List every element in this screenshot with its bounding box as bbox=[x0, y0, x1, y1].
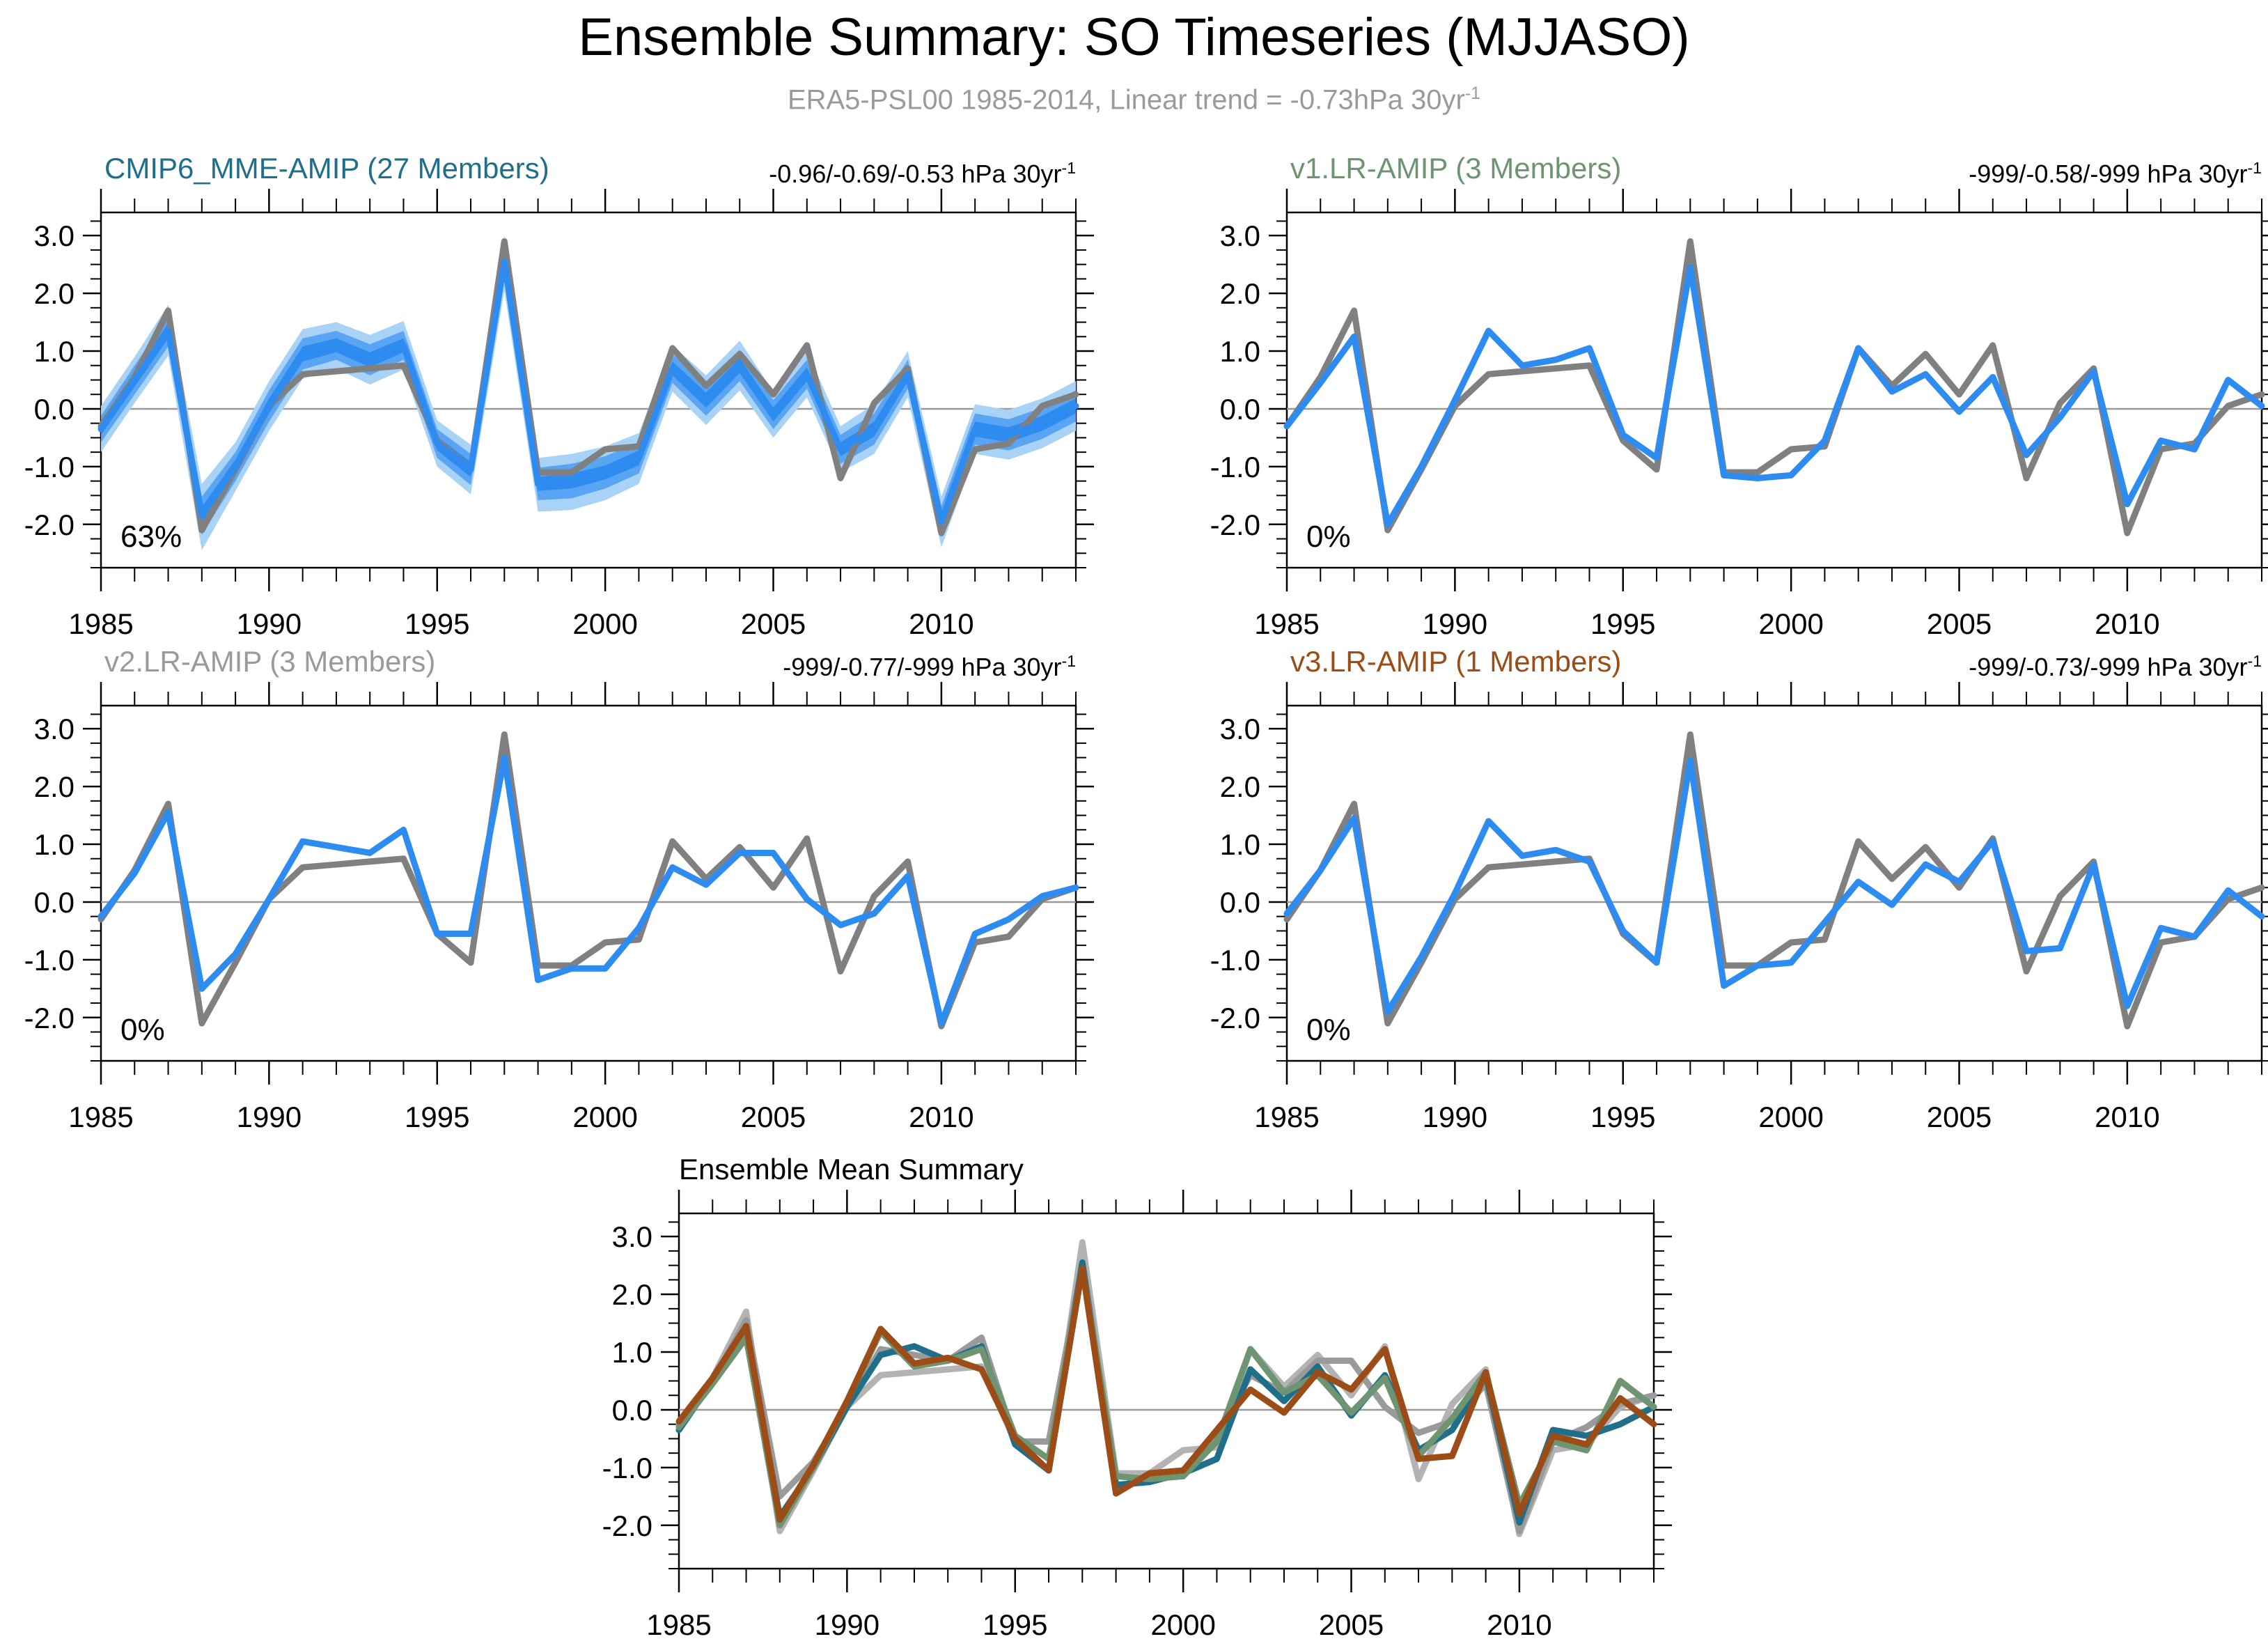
x-tick-label: 1985 bbox=[1254, 607, 1319, 640]
x-tick-label: 2010 bbox=[2095, 607, 2159, 640]
y-tick-label: 2.0 bbox=[612, 1278, 652, 1311]
panel-v3: 3.02.01.00.0-1.0-2.019851990199520002005… bbox=[0, 0, 2268, 1639]
y-tick-label: 0.0 bbox=[34, 886, 75, 919]
panel-trend-v1: -999/-0.58/-999 hPa 30yr-1 bbox=[1635, 159, 2262, 189]
y-tick-label: 2.0 bbox=[1220, 770, 1260, 803]
x-tick-label: 1990 bbox=[1423, 1101, 1487, 1133]
panel-title-v3: v3.LR-AMIP (1 Members) bbox=[1290, 645, 1621, 678]
x-tick-label: 1985 bbox=[646, 1608, 711, 1639]
percent-significance-label: 0% bbox=[1306, 1013, 1351, 1047]
y-tick-label: -2.0 bbox=[1210, 1002, 1260, 1034]
x-tick-label: 2000 bbox=[1150, 1608, 1215, 1639]
x-tick-label: 2000 bbox=[1758, 607, 1823, 640]
y-tick-label: 2.0 bbox=[34, 770, 75, 803]
percent-significance-label: 63% bbox=[120, 520, 182, 554]
y-tick-label: 0.0 bbox=[1220, 886, 1260, 919]
panel-v2: 3.02.01.00.0-1.0-2.019851990199520002005… bbox=[0, 0, 2268, 1639]
panel-title-v1: v1.LR-AMIP (3 Members) bbox=[1290, 152, 1621, 185]
subtitle-superscript: -1 bbox=[1465, 84, 1480, 103]
data-line bbox=[101, 241, 1076, 533]
plot-area-v3: 3.02.01.00.0-1.0-2.019851990199520002005… bbox=[0, 0, 2268, 1639]
y-tick-label: 3.0 bbox=[612, 1220, 652, 1253]
plot-area-v2: 3.02.01.00.0-1.0-2.019851990199520002005… bbox=[0, 0, 2268, 1639]
trend-value: -999/-0.58/-999 hPa 30yr bbox=[1969, 160, 2247, 188]
x-tick-label: 2005 bbox=[1319, 1608, 1384, 1639]
y-tick-label: 3.0 bbox=[1220, 219, 1260, 252]
y-tick-label: 2.0 bbox=[1220, 277, 1260, 310]
trend-superscript: -1 bbox=[1062, 652, 1076, 670]
x-tick-label: 2000 bbox=[1758, 1101, 1823, 1133]
x-tick-label: 1985 bbox=[1254, 1101, 1319, 1133]
x-tick-label: 2005 bbox=[741, 1101, 806, 1133]
trend-superscript: -1 bbox=[1062, 159, 1076, 177]
y-tick-label: -2.0 bbox=[24, 508, 75, 541]
y-tick-label: -1.0 bbox=[24, 451, 75, 483]
x-tick-label: 1985 bbox=[68, 607, 133, 640]
y-tick-label: -2.0 bbox=[1210, 508, 1260, 541]
y-tick-label: 1.0 bbox=[34, 828, 75, 861]
data-line bbox=[679, 1268, 1654, 1525]
plot-frame bbox=[101, 212, 1076, 568]
confidence-band bbox=[101, 235, 1076, 550]
x-tick-label: 1990 bbox=[237, 607, 302, 640]
x-tick-label: 2010 bbox=[1487, 1608, 1551, 1639]
y-tick-label: -1.0 bbox=[24, 944, 75, 977]
y-tick-label: 3.0 bbox=[34, 713, 75, 745]
y-tick-label: 0.0 bbox=[1220, 393, 1260, 426]
x-tick-label: 1995 bbox=[405, 607, 469, 640]
plot-area-summary: 3.02.01.00.0-1.0-2.019851990199520002005… bbox=[0, 0, 2268, 1639]
y-tick-label: 0.0 bbox=[612, 1394, 652, 1427]
panel-title-summary: Ensemble Mean Summary bbox=[679, 1153, 1024, 1186]
data-line bbox=[679, 1268, 1654, 1520]
panel-v1: 3.02.01.00.0-1.0-2.019851990199520002005… bbox=[0, 0, 2268, 1639]
x-tick-label: 1995 bbox=[1590, 1101, 1655, 1133]
confidence-band bbox=[101, 253, 1076, 529]
plot-area-cmip6: 3.02.01.00.0-1.0-2.019851990199520002005… bbox=[0, 0, 2268, 1639]
x-tick-label: 1990 bbox=[815, 1608, 879, 1639]
plot-area-v1: 3.02.01.00.0-1.0-2.019851990199520002005… bbox=[0, 0, 2268, 1639]
x-tick-label: 2000 bbox=[572, 1101, 637, 1133]
y-tick-label: 1.0 bbox=[34, 335, 75, 368]
data-line bbox=[1287, 267, 2262, 525]
percent-significance-label: 0% bbox=[120, 1013, 165, 1047]
y-tick-label: 1.0 bbox=[612, 1336, 652, 1369]
y-tick-label: -1.0 bbox=[602, 1452, 652, 1484]
panel-trend-v2: -999/-0.77/-999 hPa 30yr-1 bbox=[449, 652, 1076, 682]
figure-root: Ensemble Summary: SO Timeseries (MJJASO)… bbox=[0, 0, 2268, 1639]
y-tick-label: -2.0 bbox=[24, 1002, 75, 1034]
y-tick-label: -1.0 bbox=[1210, 944, 1260, 977]
x-tick-label: 2005 bbox=[1927, 1101, 1992, 1133]
x-tick-label: 2005 bbox=[1927, 607, 1992, 640]
data-line bbox=[1287, 734, 2262, 1026]
plot-frame bbox=[679, 1213, 1654, 1569]
plot-frame bbox=[1287, 706, 2262, 1061]
data-line bbox=[679, 1242, 1654, 1534]
x-tick-label: 1995 bbox=[1590, 607, 1655, 640]
plot-frame bbox=[101, 706, 1076, 1061]
trend-value: -999/-0.73/-999 hPa 30yr bbox=[1969, 653, 2247, 681]
plot-frame bbox=[1287, 212, 2262, 568]
x-tick-label: 1990 bbox=[237, 1101, 302, 1133]
panel-title-v2: v2.LR-AMIP (3 Members) bbox=[104, 645, 435, 678]
y-tick-label: -1.0 bbox=[1210, 451, 1260, 483]
trend-value: -999/-0.77/-999 hPa 30yr bbox=[783, 653, 1061, 681]
y-tick-label: 1.0 bbox=[1220, 335, 1260, 368]
data-line bbox=[1287, 241, 2262, 533]
x-tick-label: 1995 bbox=[405, 1101, 469, 1133]
y-tick-label: 0.0 bbox=[34, 393, 75, 426]
data-line bbox=[101, 261, 1076, 521]
data-line bbox=[101, 734, 1076, 1026]
x-tick-label: 1990 bbox=[1423, 607, 1487, 640]
confidence-band bbox=[101, 244, 1076, 537]
page-title: Ensemble Summary: SO Timeseries (MJJASO) bbox=[0, 7, 2268, 68]
panel-trend-cmip6: -0.96/-0.69/-0.53 hPa 30yr-1 bbox=[449, 159, 1076, 189]
panel-trend-v3: -999/-0.73/-999 hPa 30yr-1 bbox=[1635, 652, 2262, 682]
x-tick-label: 2005 bbox=[741, 607, 806, 640]
subtitle-text: ERA5-PSL00 1985-2014, Linear trend = -0.… bbox=[788, 84, 1465, 115]
trend-superscript: -1 bbox=[2248, 159, 2262, 177]
x-tick-label: 2010 bbox=[2095, 1101, 2159, 1133]
y-tick-label: 3.0 bbox=[1220, 713, 1260, 745]
x-tick-label: 2010 bbox=[909, 1101, 973, 1133]
figure-subtitle: ERA5-PSL00 1985-2014, Linear trend = -0.… bbox=[0, 84, 2268, 116]
x-tick-label: 1995 bbox=[983, 1608, 1047, 1639]
y-tick-label: 2.0 bbox=[34, 277, 75, 310]
data-line bbox=[679, 1266, 1654, 1531]
panel-summary: 3.02.01.00.0-1.0-2.019851990199520002005… bbox=[0, 0, 2268, 1639]
trend-superscript: -1 bbox=[2248, 652, 2262, 670]
data-line bbox=[1287, 761, 2262, 1012]
x-tick-label: 1985 bbox=[68, 1101, 133, 1133]
x-tick-label: 2010 bbox=[909, 607, 973, 640]
trend-value: -0.96/-0.69/-0.53 hPa 30yr bbox=[769, 160, 1061, 188]
y-tick-label: 1.0 bbox=[1220, 828, 1260, 861]
panel-cmip6: 3.02.01.00.0-1.0-2.019851990199520002005… bbox=[0, 0, 2268, 1639]
y-tick-label: -2.0 bbox=[602, 1509, 652, 1542]
data-line bbox=[101, 758, 1076, 1023]
data-line bbox=[679, 1262, 1654, 1522]
percent-significance-label: 0% bbox=[1306, 520, 1351, 554]
y-tick-label: 3.0 bbox=[34, 219, 75, 252]
x-tick-label: 2000 bbox=[572, 607, 637, 640]
